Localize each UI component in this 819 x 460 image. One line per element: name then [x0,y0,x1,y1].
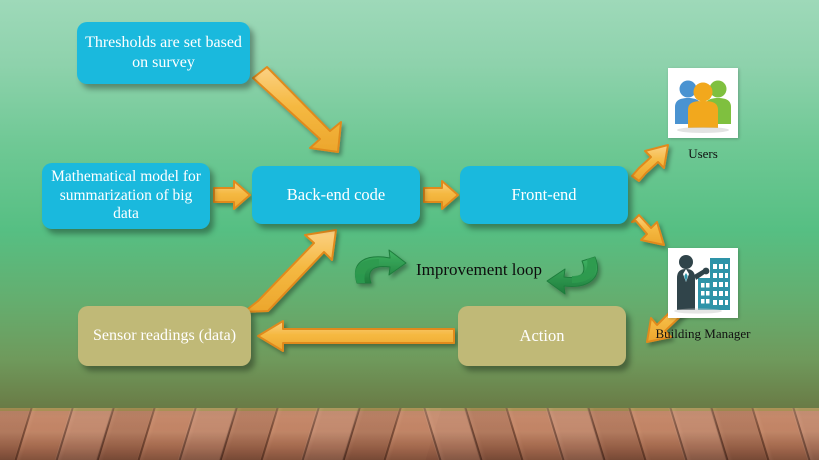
building-manager-label: Building Manager [653,326,753,342]
diagram-canvas: Thresholds are set based on survey Mathe… [0,0,819,460]
arrow-frontend-to-building-manager [632,215,664,245]
node-math-model[interactable]: Mathematical model for summarization of … [42,163,210,229]
arrow-math-to-backend [214,181,250,209]
node-action[interactable]: Action [458,306,626,366]
node-thresholds[interactable]: Thresholds are set based on survey [77,22,250,84]
arrow-backend-to-frontend [424,181,458,209]
arrow-thresholds-to-backend [253,67,341,152]
node-frontend[interactable]: Front-end [460,166,628,224]
users-label: Users [653,146,753,162]
users-group-icon [668,68,738,138]
loop-arrow-left [355,250,406,283]
loop-arrow-right [547,257,598,294]
node-sensor-readings[interactable]: Sensor readings (data) [78,306,251,366]
arrow-action-to-sensor [258,321,454,351]
building-manager-icon [668,248,738,318]
improvement-loop-label: Improvement loop [404,260,554,280]
node-backend-code[interactable]: Back-end code [252,166,420,224]
arrow-sensor-to-backend [244,230,336,312]
wooden-floor [0,408,819,460]
